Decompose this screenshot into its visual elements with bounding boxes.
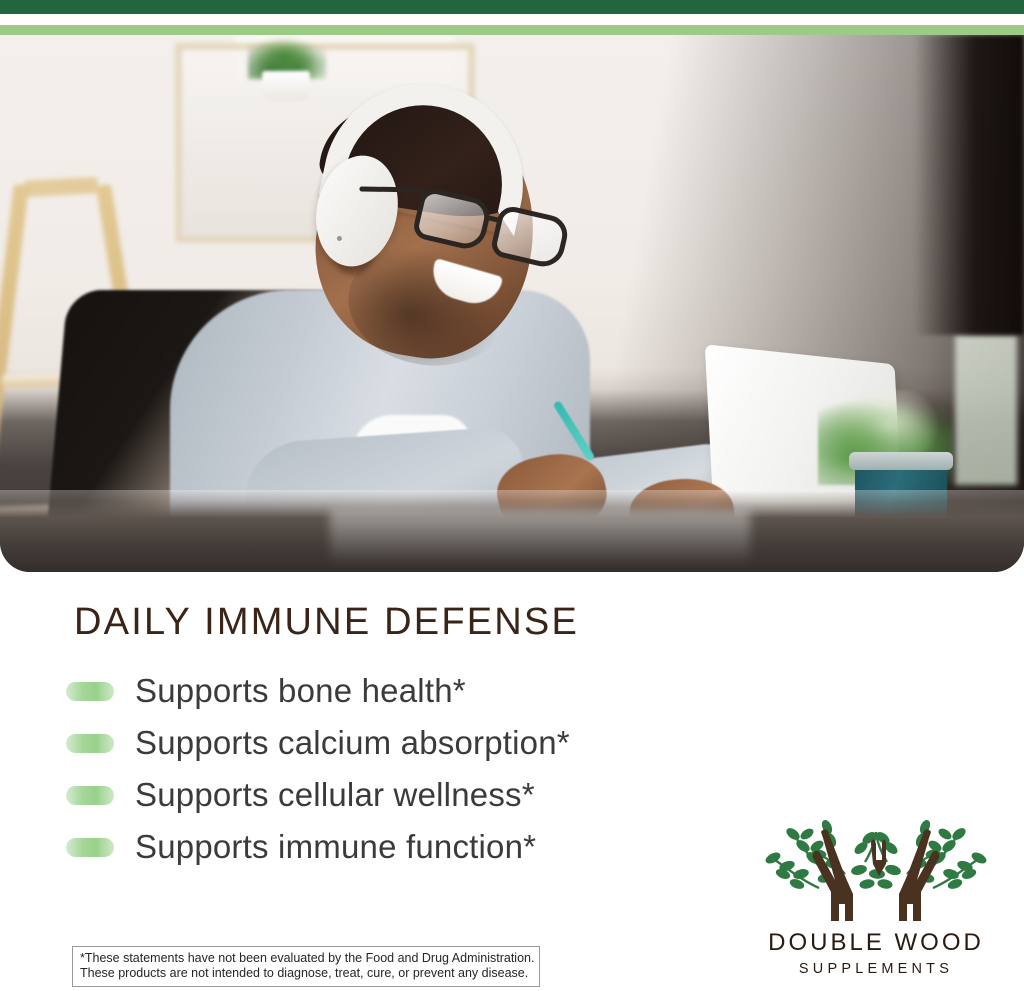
logo-tagline: SUPPLEMENTS [752,961,1000,977]
benefits-list: Supports bone health* Supports calcium a… [66,665,570,873]
benefit-label: Supports calcium absorption* [135,724,570,762]
logo-brand-name: DOUBLE WOOD [752,929,1000,957]
list-item: Supports calcium absorption* [66,717,570,769]
desk-reflection [330,510,750,566]
fda-disclaimer: *These statements have not been evaluate… [72,946,540,987]
capsule-pill-icon [66,838,114,857]
benefit-label: Supports bone health* [135,672,466,710]
list-item: Supports cellular wellness* [66,769,570,821]
capsule-pill-icon [66,786,114,805]
easel-top [24,177,99,197]
disclaimer-line-2: These products are not intended to diagn… [80,966,532,981]
list-item: Supports bone health* [66,665,570,717]
double-tree-logo-icon [761,818,991,923]
top-bar-light-green [0,25,1024,35]
page-title: DAILY IMMUNE DEFENSE [74,601,579,644]
desk-surface [0,490,1024,572]
top-bar-dark-green [0,0,1024,14]
background-window [955,335,1017,485]
content-area: DAILY IMMUNE DEFENSE Supports bone healt… [0,572,1024,991]
list-item: Supports immune function* [66,821,570,873]
benefit-label: Supports immune function* [135,828,536,866]
disclaimer-line-1: *These statements have not been evaluate… [80,951,532,966]
benefit-label: Supports cellular wellness* [135,776,535,814]
hero-photo [0,35,1024,572]
capsule-pill-icon [66,734,114,753]
background-plant-pot [262,71,310,101]
background-dark-panel [914,35,1024,335]
capsule-pill-icon [66,682,114,701]
brand-logo: DOUBLE WOOD SUPPLEMENTS [752,818,1000,977]
product-infographic: DAILY IMMUNE DEFENSE Supports bone healt… [0,0,1024,991]
